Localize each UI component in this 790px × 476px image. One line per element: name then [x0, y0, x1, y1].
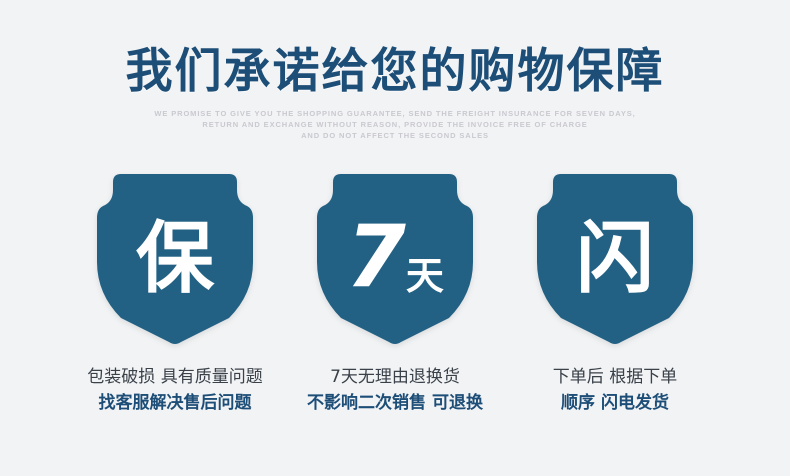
shield-icon	[95, 172, 255, 346]
guarantee-caption-2: 7天无理由退换货 不影响二次销售 可退换	[307, 364, 483, 416]
caption-line-2: 顺序 闪电发货	[553, 390, 677, 416]
caption-line-2: 找客服解决售后问题	[87, 390, 262, 416]
subtitle-block: WE PROMISE TO GIVE YOU THE SHOPPING GUAR…	[0, 108, 790, 141]
shield-badge-3: 闪	[535, 172, 695, 346]
caption-line-1: 下单后 根据下单	[553, 364, 677, 390]
subtitle-line-1: WE PROMISE TO GIVE YOU THE SHOPPING GUAR…	[0, 108, 790, 119]
page-title: 我们承诺给您的购物保障	[0, 44, 790, 100]
shield-badge-1: 保	[95, 172, 255, 346]
guarantee-banner: 我们承诺给您的购物保障 WE PROMISE TO GIVE YOU THE S…	[0, 0, 790, 476]
guarantee-caption-3: 下单后 根据下单 顺序 闪电发货	[553, 364, 677, 416]
guarantee-card-3: 闪 下单后 根据下单 顺序 闪电发货	[505, 172, 725, 416]
shield-icon	[535, 172, 695, 346]
shield-badge-2: 7 天	[315, 172, 475, 346]
guarantee-card-list: 保 包装破损 具有质量问题 找客服解决售后问题 7 天	[0, 172, 790, 416]
subtitle-line-3: AND DO NOT AFFECT THE SECOND SALES	[0, 130, 790, 141]
caption-line-2: 不影响二次销售 可退换	[307, 390, 483, 416]
guarantee-caption-1: 包装破损 具有质量问题 找客服解决售后问题	[87, 364, 262, 416]
banner-header: 我们承诺给您的购物保障 WE PROMISE TO GIVE YOU THE S…	[0, 44, 790, 141]
guarantee-card-2: 7 天 7天无理由退换货 不影响二次销售 可退换	[285, 172, 505, 416]
shield-icon	[315, 172, 475, 346]
guarantee-card-1: 保 包装破损 具有质量问题 找客服解决售后问题	[65, 172, 285, 416]
subtitle-line-2: RETURN AND EXCHANGE WITHOUT REASON, PROV…	[0, 119, 790, 130]
caption-line-1: 包装破损 具有质量问题	[87, 364, 262, 390]
caption-line-1: 7天无理由退换货	[307, 364, 483, 390]
